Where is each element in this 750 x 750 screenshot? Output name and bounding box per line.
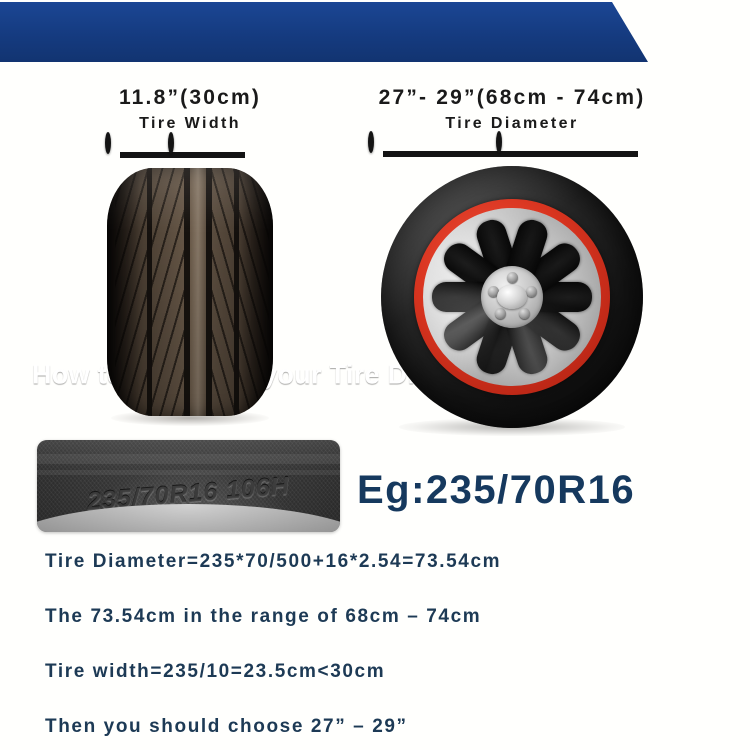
tread-sipes-outer-left: [115, 168, 147, 416]
infographic-page: How to Calculate your Tire Diameter? 11.…: [0, 0, 750, 750]
tire-diameter-dimension-bar-icon: [383, 143, 638, 165]
lug-nut: [507, 272, 518, 283]
lug-nut: [495, 308, 506, 319]
tread-body: [107, 168, 273, 416]
tread-sipes-outer-right: [239, 168, 269, 416]
dimension-rule: [383, 151, 638, 157]
sidewall-band: [37, 470, 340, 475]
tire-tread-front-view-icon: [107, 168, 273, 416]
tire-width-value: 11.8”(30cm): [62, 86, 318, 110]
example-tire-code: Eg:235/70R16: [357, 468, 635, 513]
alloy-wheel-side-view-icon: [381, 166, 643, 428]
dimension-rule: [120, 152, 245, 158]
calculation-line-range-check: The 73.54cm in the range of 68cm – 74cm: [45, 606, 481, 628]
dimension-cap-left: [105, 132, 111, 154]
tire-width-name: Tire Width: [62, 115, 318, 133]
dimension-cap-right: [168, 132, 174, 154]
tire-sidewall-photo-icon: 235/70R16 106H: [37, 440, 340, 532]
calculation-line-diameter: Tire Diameter=235*70/500+16*2.54=73.54cm: [45, 551, 501, 573]
sidewall-band: [37, 454, 340, 464]
dimension-cap-left: [368, 131, 374, 153]
tire-width-dimension-bar-icon: [120, 144, 245, 166]
tread-center-rib: [190, 168, 206, 416]
tire-diameter-value: 27”- 29”(68cm - 74cm): [330, 86, 694, 110]
header-banner: [0, 2, 648, 62]
tire-diameter-name: Tire Diameter: [330, 115, 694, 133]
lug-nut: [519, 308, 530, 319]
lug-nut: [526, 286, 537, 297]
tread-sipes-right: [212, 168, 234, 416]
calculation-line-width: Tire width=235/10=23.5cm<30cm: [45, 661, 385, 683]
calculation-line-conclusion: Then you should choose 27” – 29”: [45, 716, 408, 738]
wheel-center-cap: [497, 285, 527, 309]
tread-sipes-left: [152, 168, 184, 416]
dimension-cap-right: [496, 131, 502, 153]
